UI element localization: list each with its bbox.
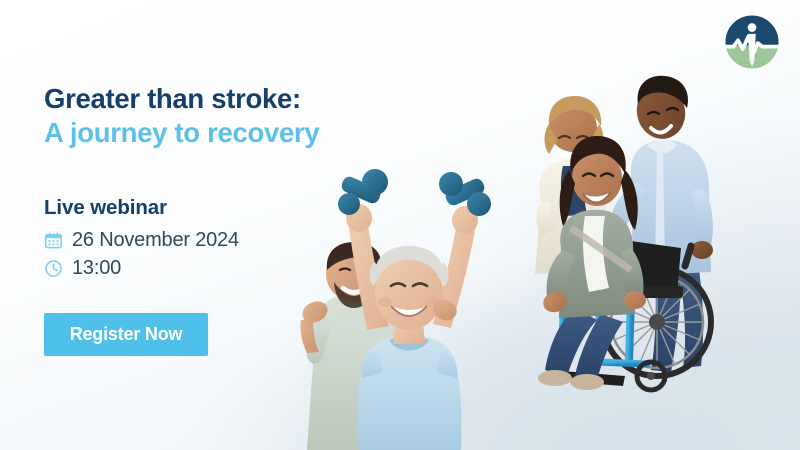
register-now-button[interactable]: Register Now [44,313,208,356]
clock-icon [44,259,63,278]
headline-line-1: Greater than stroke: [44,82,404,116]
dumbbell-left [338,169,388,232]
event-date: 26 November 2024 [72,230,239,250]
calendar-icon [44,231,63,250]
event-time: 13:00 [72,258,121,278]
institute-health-logo [723,13,781,71]
senior-man-lifting-dumbbells-with-therapist [255,160,535,450]
event-time-row: 13:00 [44,258,121,278]
event-label: Live webinar [44,196,167,220]
dumbbell-right [439,172,491,234]
webinar-banner: Greater than stroke: A journey to recove… [0,0,800,450]
event-date-row: 26 November 2024 [44,230,239,250]
woman-in-wheelchair-with-family [505,70,725,400]
headline-line-2: A journey to recovery [44,116,404,150]
headline-block: Greater than stroke: A journey to recove… [44,82,404,149]
